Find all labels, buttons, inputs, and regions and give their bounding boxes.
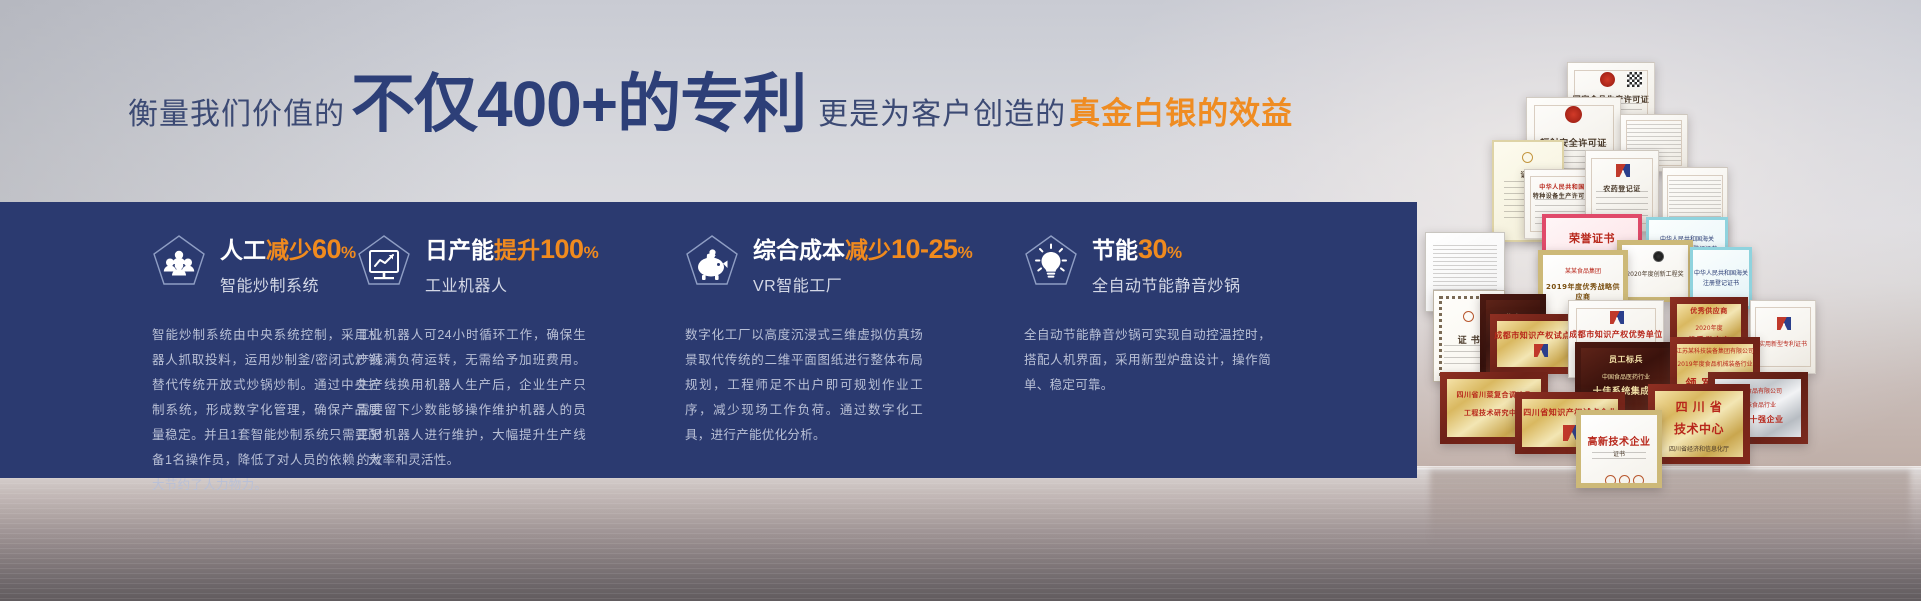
feature-title-accent: 减少: [845, 237, 891, 263]
feature-title-unit: %: [1167, 243, 1182, 262]
feature-subtitle: 工业机器人: [425, 272, 599, 296]
certificate-item: 四 川 省 技术中心 四川省经济和信息化厅: [1648, 384, 1750, 464]
feature-title: 节能30%: [1092, 235, 1241, 265]
feature-subtitle: VR智能工厂: [753, 272, 973, 296]
feature-body-text: 全自动节能静音炒锅可实现自动控温控时，搭配人机界面，采用新型炉盘设计，操作简单、…: [1024, 323, 1271, 398]
feature-body-text: 数字化工厂以高度沉浸式三维虚拟仿真场景取代传统的二维平面图纸进行整体布局规划，工…: [685, 323, 923, 448]
feature-title: 人工减少60%: [220, 235, 356, 265]
certificate-item: 2020年度创新工程奖: [1617, 240, 1693, 302]
feature-title-prefix: 日产能: [425, 237, 494, 263]
feature-subtitle: 全自动节能静音炒锅: [1092, 272, 1241, 296]
feature-body-text: 工业机器人可24小时循环工作，确保生产线满负荷运转，无需给予加班费用。生产线换用…: [357, 323, 586, 473]
feature-title-prefix: 人工: [220, 237, 266, 263]
features-panel: 人工减少60% 智能炒制系统 智能炒制系统由中央系统控制，采用机器人抓取投料，运…: [0, 202, 1417, 478]
page-headline: 衡量我们价值的 不仅400+的专利 更是为客户创造的 真金白银的效益: [128, 70, 1388, 142]
feature-title-prefix: 综合成本: [753, 237, 845, 263]
lightbulb-icon: [1024, 234, 1078, 292]
headline-emphasis: 不仅400+的专利: [351, 72, 806, 136]
feature-title-number: 10-25: [891, 234, 958, 264]
feature-subtitle: 智能炒制系统: [220, 272, 356, 296]
certificate-wall: 国家食品生产许可证 辐射安全许可证 证书 中华人民共和国 特种设备生产许可证 农…: [1420, 42, 1921, 492]
feature-title: 综合成本减少10-25%: [753, 235, 973, 265]
feature-card-capacity-increase: 日产能提升100% 工业机器人 工业机器人可24小时循环工作，确保生产线满负荷运…: [345, 202, 672, 478]
feature-card-cost-reduction: 综合成本减少10-25% VR智能工厂 数字化工厂以高度沉浸式三维虚拟仿真场景取…: [672, 202, 1012, 478]
feature-card-labor-reduction: 人工减少60% 智能炒制系统 智能炒制系统由中央系统控制，采用机器人抓取投料，运…: [0, 202, 345, 478]
feature-title-number: 100: [540, 234, 584, 264]
feature-title-number: 60: [312, 234, 341, 264]
headline-prefix: 衡量我们价值的: [128, 100, 345, 130]
feature-title-accent: 减少: [266, 237, 312, 263]
people-group-icon: [152, 234, 206, 292]
feature-title-prefix: 节能: [1092, 237, 1138, 263]
feature-title-unit: %: [584, 243, 599, 262]
feature-title-unit: %: [958, 243, 973, 262]
chart-board-icon: [357, 234, 411, 292]
certificate-item: 高新技术企业 证书: [1576, 410, 1662, 488]
headline-highlight: 真金白银的效益: [1069, 98, 1293, 129]
feature-title-number: 30: [1138, 234, 1167, 264]
feature-card-energy-saving: 节能30% 全自动节能静音炒锅 全自动节能静音炒锅可实现自动控温控时，搭配人机界…: [1012, 202, 1362, 478]
headline-middle: 更是为客户创造的: [818, 100, 1066, 130]
piggy-bank-icon: [685, 234, 739, 292]
feature-title: 日产能提升100%: [425, 235, 599, 265]
feature-title-accent: 提升: [494, 237, 540, 263]
